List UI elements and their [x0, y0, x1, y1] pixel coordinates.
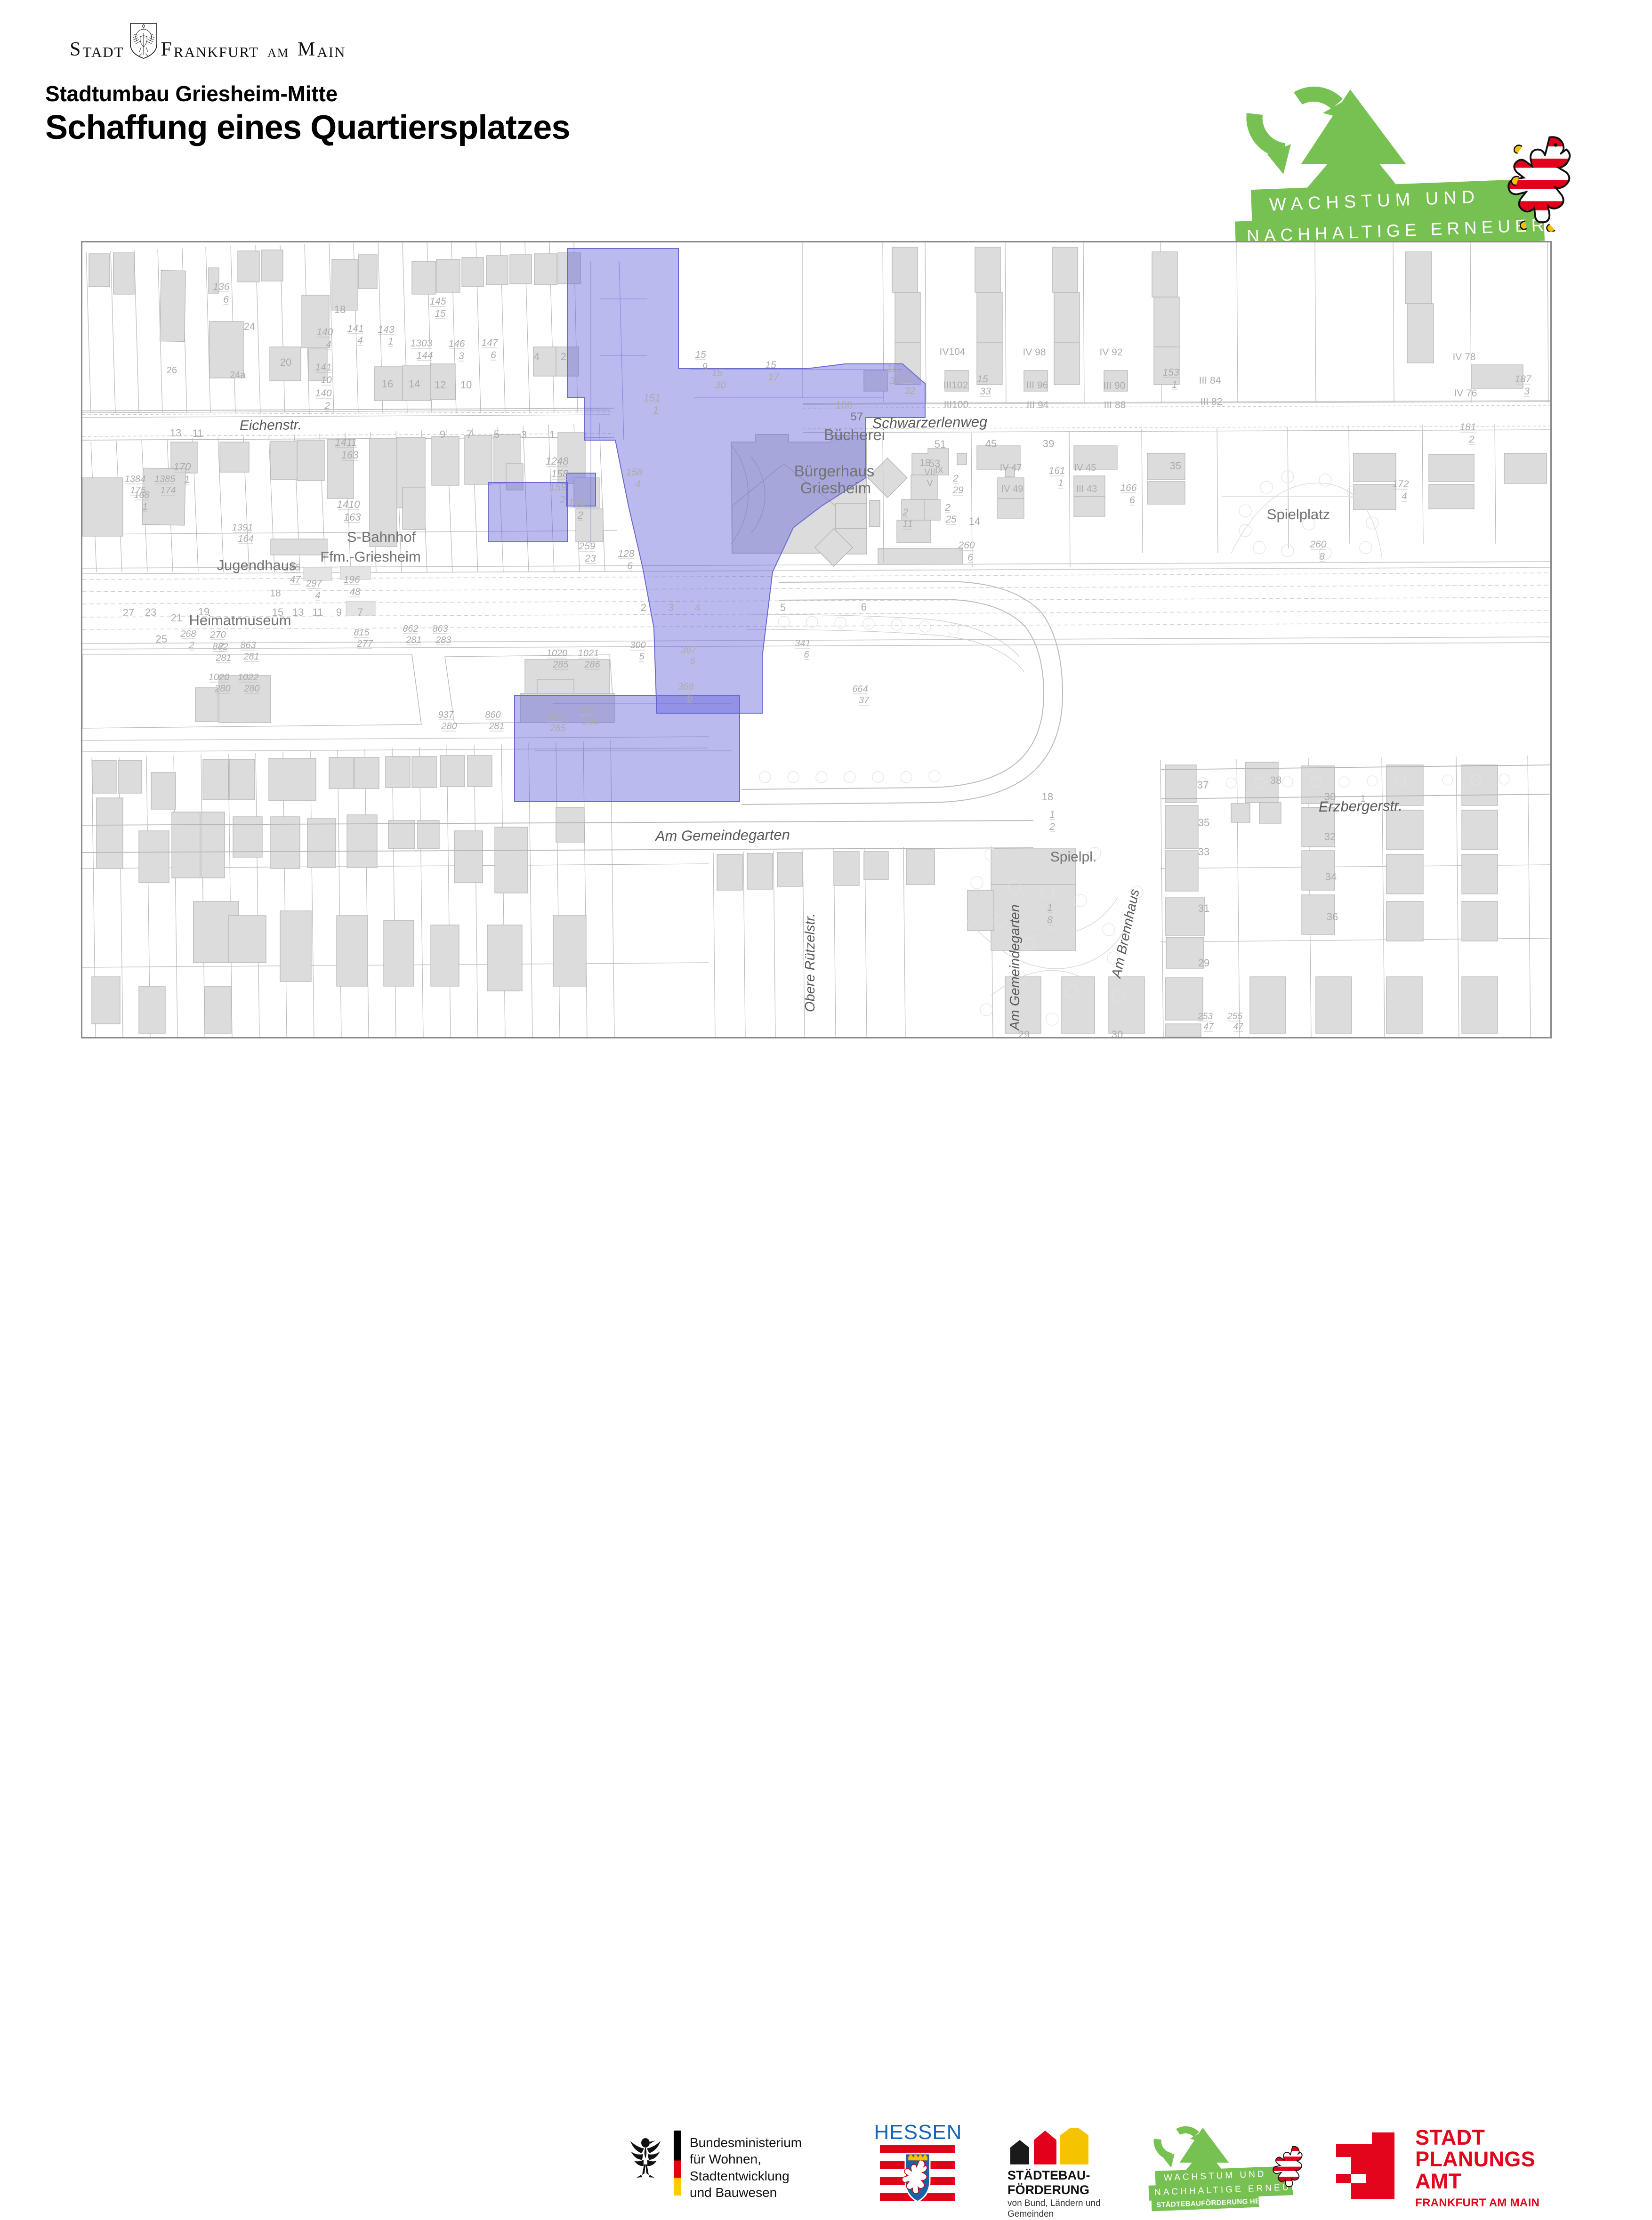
parcel-label: 10: [321, 375, 332, 386]
parcel-label: 664: [852, 684, 868, 694]
parcel-label: 1021: [578, 648, 599, 659]
parcel-label: 33: [980, 386, 991, 397]
parcel-label: 4: [635, 479, 641, 490]
parcel-label: 367: [681, 645, 697, 655]
cadastral-map[interactable]: 13662424a2614041411014021414143114515130…: [81, 241, 1552, 1038]
city-logo-am: AM: [267, 47, 289, 59]
parcel-label: 1384: [125, 474, 146, 484]
parcel-label: 1022: [238, 672, 259, 683]
parcel-label: 181: [1459, 422, 1476, 433]
parcel-label: 341: [795, 638, 810, 649]
parcel-label: 1: [1049, 809, 1055, 820]
parcel-label: 277: [356, 639, 373, 649]
parcel-label: 144: [416, 350, 433, 361]
parcel-label: 39: [1043, 438, 1054, 450]
parcel-label: 2: [944, 502, 951, 513]
parcel-label: V: [927, 479, 933, 489]
parcel-label: 158: [568, 497, 586, 508]
german-flag-bar-icon: [674, 2131, 681, 2196]
street-label: Obere Rützelstr.: [803, 913, 818, 1012]
parcel-label: 27: [123, 607, 134, 619]
parcel-label: 1020: [209, 672, 230, 683]
street-label: Eichenstr.: [240, 417, 302, 434]
parcel-label: 141: [315, 362, 331, 373]
parcel-label: 14: [969, 515, 980, 527]
parcel-label: 196: [343, 574, 360, 585]
parcel-label: 4: [1402, 491, 1407, 502]
parcel-label: 140: [315, 388, 331, 399]
parcel-label: 6: [1129, 495, 1135, 506]
parcel-label: 1410: [337, 499, 361, 510]
parcel-label: 1: [549, 429, 555, 441]
parcel-label: 163: [344, 511, 361, 523]
parcel-label: 285: [552, 660, 569, 670]
stbf-line-4: Gemeinden: [1007, 2209, 1101, 2220]
parcel-label: III100: [944, 399, 969, 410]
parcel-label: 286: [584, 660, 600, 670]
parcel-label: 860: [485, 710, 500, 720]
parcel-label: 37: [1197, 779, 1209, 791]
parcel-label: 168: [134, 490, 149, 500]
parcel-label: 34: [1325, 871, 1337, 883]
parcel-label: 23: [584, 553, 596, 564]
parcel-label: III 90: [1104, 380, 1126, 391]
parcel-label: 4: [357, 335, 363, 346]
parcel-label: 2: [902, 507, 908, 518]
parcel-label: 35: [1198, 817, 1209, 828]
parcel-label: 2: [324, 401, 330, 411]
parcel-label: 15: [886, 363, 898, 374]
parcel-label: 7: [357, 606, 363, 618]
parcel-label: 3: [1524, 386, 1530, 397]
parcel-label: 16: [382, 378, 393, 390]
parcel-label: 47: [1203, 1022, 1214, 1032]
parcel-label: 136: [213, 282, 229, 292]
poi-label: 57: [851, 410, 863, 423]
city-logo-rankfurt: RANKFURT: [174, 45, 259, 59]
parcel-label: 6: [861, 601, 867, 613]
parcel-label: 281: [215, 653, 231, 663]
parcel-label: 253: [1197, 1012, 1213, 1022]
parcel-label: 806: [546, 712, 562, 722]
parcel-label: 2: [1468, 434, 1475, 445]
parcel-label: 4: [326, 339, 331, 350]
poi-label: Heimatmuseum: [189, 612, 291, 628]
parcel-label: 260: [1309, 539, 1326, 550]
parcel-label: III102: [943, 380, 968, 391]
parcel-label: 1: [1047, 902, 1053, 913]
parcel-label: 281: [405, 635, 421, 645]
parcel-label: 6: [491, 350, 496, 361]
parcel-label: 163: [341, 449, 359, 461]
parcel-label: IV 45: [1074, 463, 1096, 473]
parcel-label: 153: [1162, 367, 1179, 378]
bmwsb-line-1: Bundesministerium: [690, 2134, 850, 2151]
poi-label: Bücherei: [824, 426, 885, 443]
spa-line-1: STADT: [1415, 2127, 1535, 2148]
parcel-label: 1: [653, 404, 659, 416]
parcel-label: 29: [1198, 957, 1209, 969]
parcel-label: 32: [1324, 831, 1336, 843]
hessen-lion-icon: [1270, 2144, 1310, 2191]
stbf-line-2: FÖRDERUNG: [1007, 2183, 1090, 2197]
parcel-label: 13: [292, 606, 304, 618]
poi-label: Spielpl.: [1050, 849, 1096, 865]
stadtplanungsamt-mark-icon: [1332, 2130, 1404, 2201]
parcel-label: 15: [435, 308, 446, 319]
city-logo-m: M: [298, 40, 316, 59]
frankfurt-eagle-crest-icon: [129, 23, 158, 59]
parcel-label: 268: [180, 629, 196, 639]
parcel-label: 45: [985, 438, 997, 450]
stbf-line-3: von Bund, Ländern und: [1007, 2198, 1101, 2209]
parcel-label: 143: [378, 324, 394, 335]
parcel-label: 7: [467, 428, 472, 440]
parcel-label: 5: [494, 428, 500, 440]
parcel-label: 5: [780, 602, 786, 613]
parcel-label: 30: [715, 380, 726, 391]
poi-label: Bürgerhaus: [794, 462, 875, 480]
parcel-label: 15: [765, 360, 776, 370]
parcel-label: 787: [579, 705, 595, 716]
parcel-label: IV 76: [1454, 388, 1477, 399]
parcel-label: 285: [549, 723, 566, 733]
parcel-label: 23: [145, 606, 156, 618]
city-logo-s: S: [70, 40, 81, 59]
parcel-label: 164: [238, 534, 253, 544]
parcel-label: IV 78: [1452, 352, 1475, 362]
parcel-label: 300: [630, 640, 645, 651]
parcel-label: 8: [1047, 915, 1053, 925]
parcel-label: 15: [711, 368, 723, 378]
street-label: Schwarzerlenweg: [872, 413, 987, 431]
poster-footer: Bundesministerium für Wohnen, Stadtentwi…: [0, 1059, 1652, 1167]
parcel-label: 31: [1198, 902, 1209, 914]
parcel-label: 18: [919, 458, 930, 468]
parcel-label: 281: [488, 721, 504, 732]
parcel-label: 146: [448, 338, 465, 349]
poster-header: S TADT F RANKFURT AM M AIN: [0, 0, 1652, 235]
parcel-label: 8: [1319, 551, 1325, 562]
parcel-label: 18: [1042, 791, 1053, 803]
parcel-label: 158: [626, 467, 642, 478]
parcel-label: 47: [290, 574, 301, 585]
map-drawing: 13662424a2614041411014021414143114515130…: [82, 242, 1550, 1037]
poi-label: S-Bahnhof: [347, 529, 416, 545]
city-logo-f: F: [161, 40, 173, 59]
parcel-label: 2: [188, 640, 194, 651]
parcel-label: 13: [170, 427, 181, 439]
three-houses-icon: [1007, 2128, 1097, 2164]
parcel-label: 14: [409, 378, 420, 390]
parcel-label: 1303: [411, 338, 433, 349]
parcel-label: 5: [639, 652, 645, 662]
parcel-label: III 82: [1201, 396, 1223, 407]
hessen-wordmark: HESSEN: [873, 2121, 963, 2144]
street-label: Am Gemeindegarten: [654, 827, 790, 845]
parcel-label: 937: [438, 710, 454, 720]
bmwsb-line-2: für Wohnen, Stadtentwicklung: [690, 2151, 850, 2184]
parcel-label: 12: [435, 379, 446, 391]
parcel-label: 9: [702, 362, 708, 372]
parcel-label: 255: [1227, 1012, 1242, 1022]
parcel-label: 106: [836, 399, 853, 411]
parcel-label: 51: [935, 438, 946, 450]
parcel-label: 286: [582, 716, 599, 727]
parcel-label: 815: [354, 627, 370, 638]
parcel-label: 159: [549, 481, 567, 493]
parcel-label: 25: [156, 633, 167, 645]
parcel-label: 24: [244, 321, 255, 332]
hessen-coat-of-arms-icon: [880, 2145, 955, 2206]
parcel-label: 2: [561, 351, 566, 362]
parcel-label: 863: [432, 624, 448, 634]
hessen-lion-icon: [1502, 133, 1587, 232]
spa-line-2: PLANUNGS: [1415, 2148, 1535, 2170]
parcel-label: 33: [1198, 846, 1209, 858]
parcel-label: 161: [1048, 466, 1065, 476]
parcel-label: 11: [313, 606, 323, 618]
parcel-label: 26: [167, 365, 177, 376]
parcel-label: 9: [440, 428, 445, 440]
parcel-label: 25: [945, 514, 957, 525]
poi-label: Jugendhaus: [217, 557, 297, 573]
parcel-label: 36: [1327, 911, 1338, 923]
parcel-label: 187: [1515, 374, 1531, 385]
parcel-label: 18: [270, 588, 281, 599]
parcel-label: 21: [171, 612, 182, 624]
parcel-label: 1: [1172, 379, 1177, 390]
parcel-label: 6: [223, 294, 229, 305]
parcel-label: III 96: [1026, 380, 1048, 391]
parcel-label: 2: [641, 602, 646, 613]
parcel-label: 170: [174, 461, 191, 473]
parcel-label: 283: [435, 635, 451, 645]
parcel-label: 20: [280, 356, 291, 368]
parcel-label: 32: [904, 386, 916, 396]
bmwsb-logo: Bundesministerium für Wohnen, Stadtentwi…: [629, 2128, 850, 2203]
parcel-label: 1: [184, 474, 190, 485]
parcel-label: 2: [559, 494, 565, 506]
parcel-label: 29: [952, 485, 964, 496]
parcel-label: 270: [210, 630, 226, 640]
parcel-label: 9: [336, 606, 342, 618]
spa-line-3: AMT: [1415, 2171, 1535, 2192]
parcel-label: 37: [859, 695, 870, 706]
parcel-label: 4: [315, 590, 320, 601]
street-label: Am Gemeindegarten: [1007, 904, 1023, 1031]
parcel-label: 15: [695, 349, 706, 360]
parcel-label: IV 92: [1099, 347, 1122, 358]
parcel-label: IX: [935, 466, 943, 475]
parcel-label: 260: [958, 540, 975, 551]
parcel-label: 882: [212, 642, 228, 652]
parcel-label: 1: [1058, 478, 1064, 489]
parcel-label: 4: [534, 351, 540, 362]
project-subtitle: Stadtumbau Griesheim-Mitte: [45, 81, 338, 106]
parcel-label: 259: [578, 541, 595, 552]
parcel-label: 17: [768, 372, 780, 383]
parcel-label: 280: [243, 684, 259, 694]
parcel-label: 4: [695, 602, 701, 613]
parcel-label: 48: [349, 587, 361, 597]
parcel-label: 145: [429, 296, 446, 307]
parcel-label: 151: [644, 392, 661, 404]
poi-label: Spielplatz: [1267, 506, 1330, 523]
parcel-label: 158: [551, 468, 569, 480]
parcel-label: 1391: [232, 523, 253, 533]
bmwsb-line-3: und Bauwesen: [690, 2184, 850, 2201]
page-title: Schaffung eines Quartiersplatzes: [45, 108, 570, 147]
parcel-label: 3: [459, 351, 464, 362]
parcel-label: 1: [142, 502, 147, 512]
parcel-label: 166: [1120, 483, 1136, 493]
parcel-label: 147: [481, 338, 498, 348]
parcel-label: 2: [1049, 821, 1055, 832]
parcel-label: 863: [240, 640, 256, 651]
parcel-label: 6: [687, 693, 693, 703]
parcel-label: 1385: [154, 474, 176, 484]
parcel-label: 174: [160, 485, 176, 496]
parcel-label: IV104: [940, 346, 966, 357]
parcel-label: III 88: [1104, 400, 1126, 410]
city-of-frankfurt-logo: S TADT F RANKFURT AM M AIN: [70, 23, 371, 59]
stadtplanungsamt-logo: STADT PLANUNGS AMT FRANKFURT AM MAIN: [1332, 2127, 1554, 2207]
parcel-label: 1411: [335, 436, 357, 448]
city-logo-tadt: TADT: [82, 45, 124, 59]
parcel-label: 297: [306, 579, 322, 589]
spa-subtitle: FRANKFURT AM MAIN: [1415, 2196, 1539, 2210]
parcel-label: III 84: [1199, 375, 1221, 386]
parcel-label: IV 98: [1023, 347, 1046, 358]
street-label: Erzbergerstr.: [1319, 797, 1402, 815]
parcel-label: 368: [678, 682, 693, 692]
parcel-label: 280: [441, 721, 457, 732]
parcel-label: 38: [1270, 774, 1281, 786]
parcel-label: 2: [952, 473, 959, 484]
parcel-label: IV 47: [1000, 463, 1022, 473]
parcel-label: 30: [1112, 1029, 1123, 1037]
parcel-label: 128: [618, 548, 634, 559]
parcel-label: 35: [1170, 460, 1181, 472]
hessen-logo: HESSEN: [873, 2121, 963, 2210]
poi-label: Griesheim: [800, 479, 871, 497]
parcel-label: 31: [889, 376, 900, 386]
parcel-label: 280: [214, 684, 230, 694]
parcel-label: III 94: [1027, 400, 1049, 410]
parcel-label: 24a: [230, 370, 246, 380]
city-logo-ain: AIN: [317, 45, 346, 59]
parcel-label: 1: [388, 336, 394, 347]
parcel-label: III 43: [1076, 484, 1097, 494]
parcel-label: 11: [903, 519, 913, 530]
parcel-label: 172: [1392, 479, 1409, 490]
parcel-label: 15: [902, 373, 913, 384]
parcel-label: IV 49: [1001, 484, 1023, 494]
program-logo-footer: WACHSTUM UND NACHHALTIGE ERNEUERUNG STÄD…: [1149, 2125, 1304, 2210]
parcel-label: 11: [193, 427, 203, 439]
poi-label: Ffm.-Griesheim: [320, 548, 421, 565]
parcel-label: 6: [967, 552, 973, 563]
parcel-label: 6: [804, 650, 809, 660]
parcel-label: 862: [403, 624, 418, 634]
parcel-label: 141: [347, 323, 363, 334]
parcel-label: 2: [577, 509, 583, 521]
parcel-label: 281: [243, 652, 259, 662]
parcel-label: 47: [1233, 1022, 1244, 1032]
staedtebaufoerderung-logo: STÄDTEBAU- FÖRDERUNG von Bund, Ländern u…: [1007, 2128, 1149, 2208]
parcel-label: 3: [668, 602, 674, 613]
parcel-label: 3: [521, 429, 527, 441]
parcel-label: 10: [460, 379, 472, 391]
stbf-line-1: STÄDTEBAU-: [1007, 2168, 1090, 2183]
parcel-label: 1248: [546, 455, 569, 467]
bundesadler-icon: [629, 2135, 662, 2180]
parcel-label: 140: [316, 327, 333, 338]
parcel-label: VII: [924, 467, 935, 477]
parcel-label: 15: [977, 374, 988, 385]
parcel-label: 6: [627, 561, 633, 571]
parcel-label: 18: [334, 304, 346, 315]
parcel-label: 6: [690, 656, 695, 667]
parcel-label: 1020: [547, 648, 568, 659]
